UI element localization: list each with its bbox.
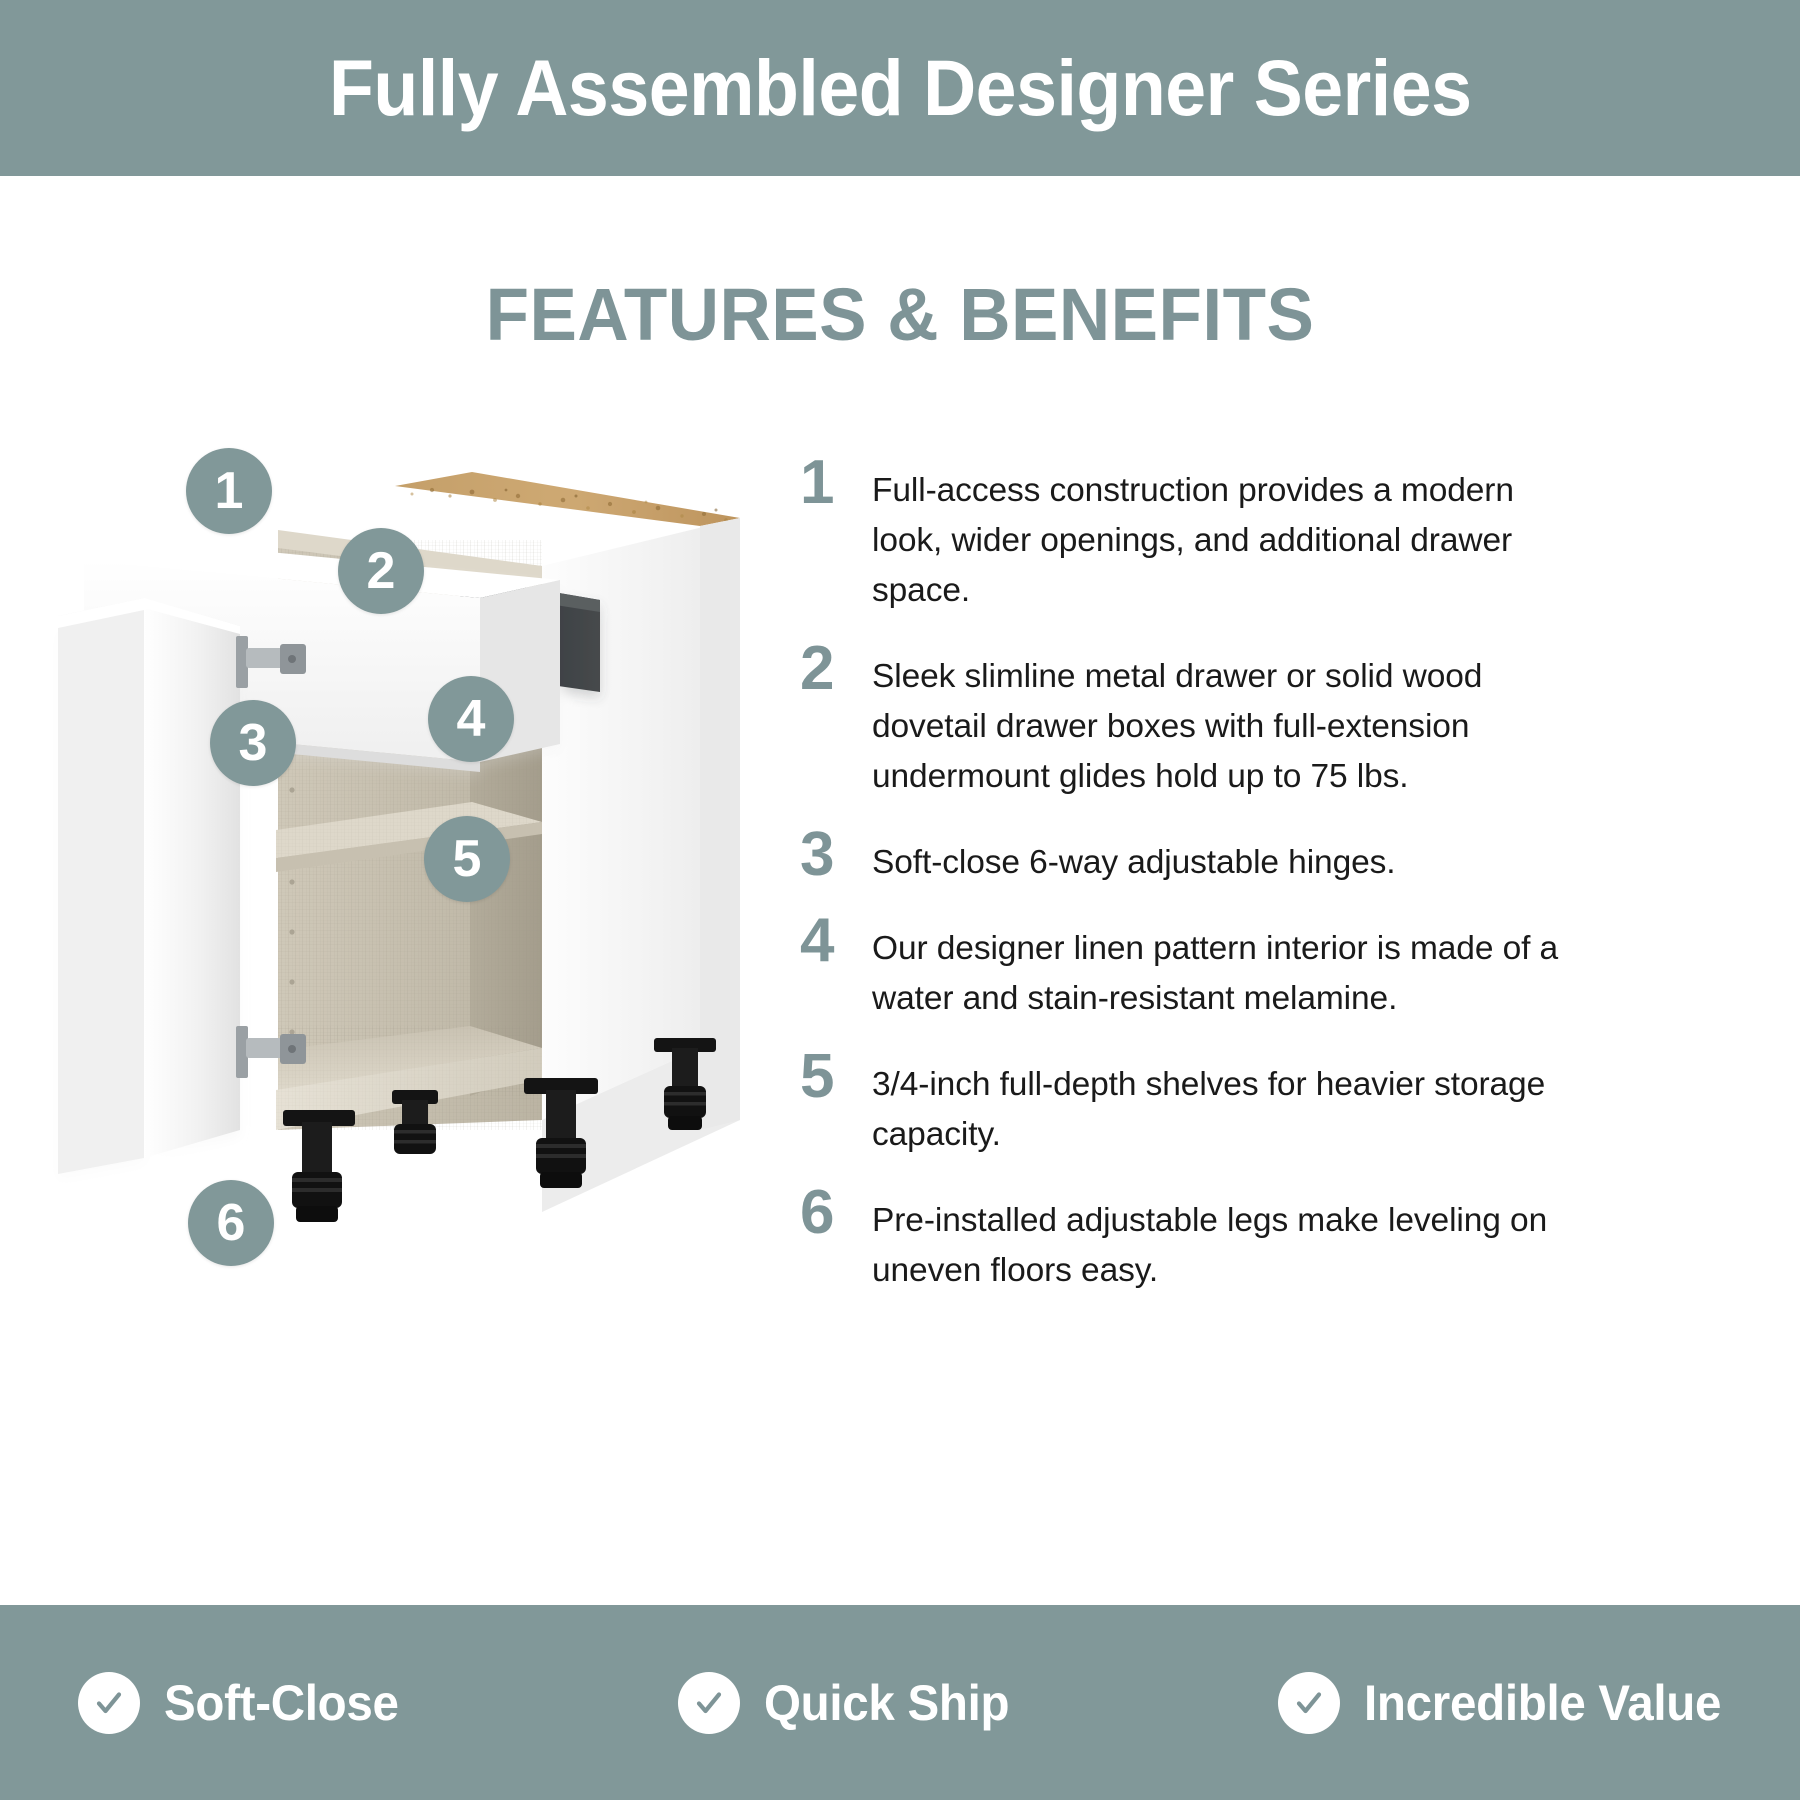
feature-text-1: Full-access construction provides a mode… xyxy=(872,452,1572,616)
footer-label-quick-ship: Quick Ship xyxy=(764,1674,1009,1732)
feature-text-6: Pre-installed adjustable legs make level… xyxy=(872,1182,1572,1296)
feature-number-1: 1 xyxy=(800,452,872,511)
feature-number-6: 6 xyxy=(800,1182,872,1241)
header-band: Fully Assembled Designer Series xyxy=(0,0,1800,176)
feature-item-5: 5 3/4-inch full-depth shelves for heavie… xyxy=(800,1046,1760,1160)
check-circle-icon xyxy=(78,1672,140,1734)
callout-badge-3[interactable]: 3 xyxy=(210,700,296,786)
feature-text-3: Soft-close 6-way adjustable hinges. xyxy=(872,824,1572,888)
feature-item-3: 3 Soft-close 6-way adjustable hinges. xyxy=(800,824,1760,888)
feature-item-2: 2 Sleek slimline metal drawer or solid w… xyxy=(800,638,1760,802)
feature-number-2: 2 xyxy=(800,638,872,697)
check-circle-icon xyxy=(1278,1672,1340,1734)
callout-badge-5[interactable]: 5 xyxy=(424,816,510,902)
callout-badge-2[interactable]: 2 xyxy=(338,528,424,614)
callout-badge-4[interactable]: 4 xyxy=(428,676,514,762)
feature-item-1: 1 Full-access construction provides a mo… xyxy=(800,452,1760,616)
footer-item-soft-close: Soft-Close xyxy=(0,1672,600,1734)
feature-number-5: 5 xyxy=(800,1046,872,1105)
section-title: FEATURES & BENEFITS xyxy=(36,272,1764,357)
footer-item-quick-ship: Quick Ship xyxy=(600,1672,1200,1734)
infographic-page: Fully Assembled Designer Series FEATURES… xyxy=(0,0,1800,1800)
footer-band: Soft-Close Quick Ship Incredible Value xyxy=(0,1605,1800,1800)
check-circle-icon xyxy=(678,1672,740,1734)
feature-text-4: Our designer linen pattern interior is m… xyxy=(872,910,1572,1024)
callout-badge-1[interactable]: 1 xyxy=(186,448,272,534)
page-title: Fully Assembled Designer Series xyxy=(329,42,1472,134)
feature-text-5: 3/4-inch full-depth shelves for heavier … xyxy=(872,1046,1572,1160)
callout-badge-6[interactable]: 6 xyxy=(188,1180,274,1266)
feature-text-2: Sleek slimline metal drawer or solid woo… xyxy=(872,638,1572,802)
feature-list: 1 Full-access construction provides a mo… xyxy=(800,452,1760,1318)
feature-number-3: 3 xyxy=(800,824,872,883)
footer-label-soft-close: Soft-Close xyxy=(164,1674,399,1732)
feature-item-6: 6 Pre-installed adjustable legs make lev… xyxy=(800,1182,1760,1296)
feature-item-4: 4 Our designer linen pattern interior is… xyxy=(800,910,1760,1024)
footer-item-incredible-value: Incredible Value xyxy=(1200,1672,1800,1734)
feature-number-4: 4 xyxy=(800,910,872,969)
cabinet-door xyxy=(58,598,240,1174)
footer-label-incredible-value: Incredible Value xyxy=(1364,1674,1721,1732)
